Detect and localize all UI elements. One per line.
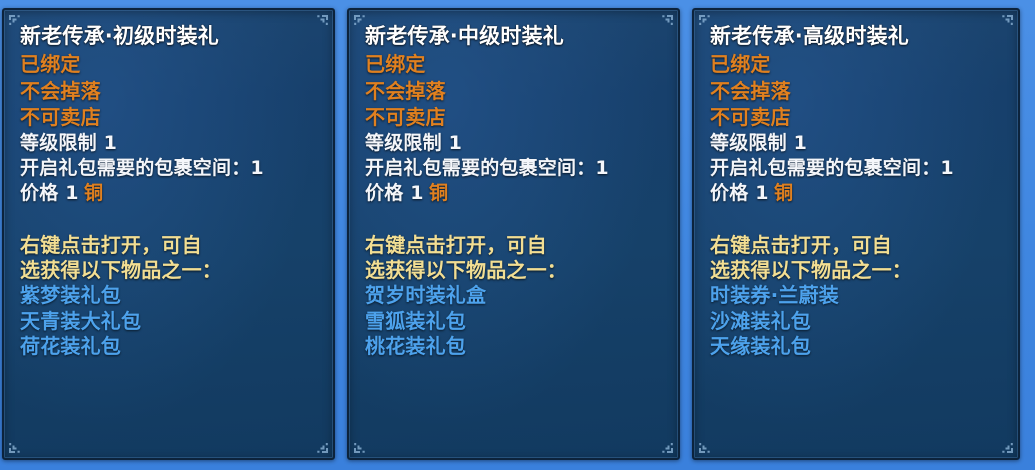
item-attribute-no-sell: 不可卖店 bbox=[365, 107, 664, 127]
item-description-line-2: 选获得以下物品之一： bbox=[710, 260, 1004, 280]
item-attribute-no-drop: 不会掉落 bbox=[20, 81, 319, 101]
item-price-amount: 价格 1 bbox=[365, 182, 424, 204]
item-attribute-no-sell: 不可卖店 bbox=[710, 107, 1004, 127]
item-price-amount: 价格 1 bbox=[20, 182, 79, 204]
corner-scroll-ornament bbox=[313, 439, 329, 454]
item-reward-list: 时装券·兰蔚装 沙滩装礼包 天缘装礼包 bbox=[710, 285, 1004, 356]
item-name: 新老传承·高级时装礼 bbox=[710, 26, 1004, 47]
item-attribute-no-drop: 不会掉落 bbox=[710, 81, 1004, 101]
tooltip-spacer bbox=[365, 210, 664, 235]
item-description-line-1: 右键点击打开，可自 bbox=[710, 235, 1004, 255]
item-level-requirement: 等级限制 1 bbox=[710, 134, 1004, 153]
corner-scroll-ornament bbox=[353, 439, 369, 454]
item-attribute-bound: 已绑定 bbox=[365, 54, 664, 74]
item-name: 新老传承·初级时装礼 bbox=[20, 26, 319, 47]
item-attribute-bound: 已绑定 bbox=[20, 54, 319, 74]
item-level-requirement: 等级限制 1 bbox=[365, 134, 664, 153]
item-reward-option: 时装券·兰蔚装 bbox=[710, 285, 1004, 305]
item-bag-space-requirement: 开启礼包需要的包裹空间：1 bbox=[20, 159, 319, 178]
tooltip-spacer bbox=[20, 210, 319, 235]
game-screen-background: 新老传承·初级时装礼 已绑定 不会掉落 不可卖店 等级限制 1 开启礼包需要的包… bbox=[0, 0, 1035, 470]
item-price: 价格 1 铜 bbox=[710, 184, 1004, 203]
item-price-currency: 铜 bbox=[429, 182, 448, 204]
item-bag-space-requirement: 开启礼包需要的包裹空间：1 bbox=[365, 159, 664, 178]
item-tooltip-panel: 新老传承·中级时装礼 已绑定 不会掉落 不可卖店 等级限制 1 开启礼包需要的包… bbox=[347, 8, 680, 460]
item-reward-list: 紫梦装礼包 天青装大礼包 荷花装礼包 bbox=[20, 285, 319, 356]
item-price-currency: 铜 bbox=[84, 182, 103, 204]
item-description-line-2: 选获得以下物品之一： bbox=[365, 260, 664, 280]
item-attribute-no-sell: 不可卖店 bbox=[20, 107, 319, 127]
item-level-requirement: 等级限制 1 bbox=[20, 134, 319, 153]
item-tooltip-panel: 新老传承·高级时装礼 已绑定 不会掉落 不可卖店 等级限制 1 开启礼包需要的包… bbox=[692, 8, 1020, 460]
item-price-amount: 价格 1 bbox=[710, 182, 769, 204]
item-reward-option: 桃花装礼包 bbox=[365, 336, 664, 356]
corner-scroll-ornament bbox=[998, 439, 1014, 454]
item-price: 价格 1 铜 bbox=[365, 184, 664, 203]
item-attribute-bound: 已绑定 bbox=[710, 54, 1004, 74]
item-price-currency: 铜 bbox=[774, 182, 793, 204]
item-tooltip-panel: 新老传承·初级时装礼 已绑定 不会掉落 不可卖店 等级限制 1 开启礼包需要的包… bbox=[2, 8, 335, 460]
item-reward-option: 紫梦装礼包 bbox=[20, 285, 319, 305]
corner-scroll-ornament bbox=[8, 439, 24, 454]
item-description-line-2: 选获得以下物品之一： bbox=[20, 260, 319, 280]
item-description-line-1: 右键点击打开，可自 bbox=[365, 235, 664, 255]
item-reward-option: 荷花装礼包 bbox=[20, 336, 319, 356]
item-bag-space-requirement: 开启礼包需要的包裹空间：1 bbox=[710, 159, 1004, 178]
item-reward-option: 雪狐装礼包 bbox=[365, 311, 664, 331]
item-reward-option: 天缘装礼包 bbox=[710, 336, 1004, 356]
item-price: 价格 1 铜 bbox=[20, 184, 319, 203]
corner-scroll-ornament bbox=[658, 439, 674, 454]
tooltip-spacer bbox=[710, 210, 1004, 235]
item-reward-option: 天青装大礼包 bbox=[20, 311, 319, 331]
item-reward-option: 贺岁时装礼盒 bbox=[365, 285, 664, 305]
item-reward-list: 贺岁时装礼盒 雪狐装礼包 桃花装礼包 bbox=[365, 285, 664, 356]
item-name: 新老传承·中级时装礼 bbox=[365, 26, 664, 47]
item-attribute-no-drop: 不会掉落 bbox=[365, 81, 664, 101]
corner-scroll-ornament bbox=[698, 439, 714, 454]
item-description-line-1: 右键点击打开，可自 bbox=[20, 235, 319, 255]
item-reward-option: 沙滩装礼包 bbox=[710, 311, 1004, 331]
